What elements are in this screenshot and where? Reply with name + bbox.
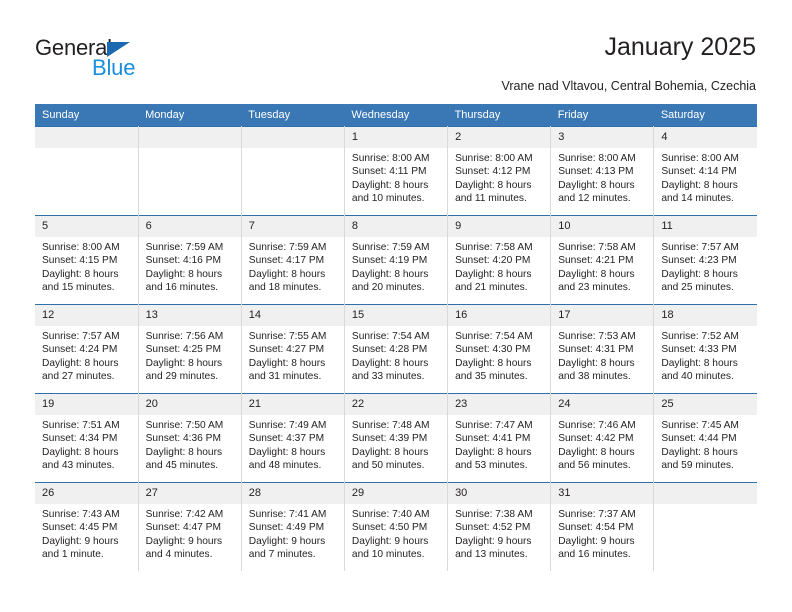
day-detail-line: and 40 minutes. [661,370,751,383]
day-detail-line: Sunrise: 7:43 AM [42,508,132,521]
day-detail-line: Sunrise: 7:49 AM [249,419,338,432]
day-detail-line: Sunrise: 8:00 AM [455,152,544,165]
day-detail-line: Daylight: 8 hours [661,179,751,192]
day-detail-line: and 59 minutes. [661,459,751,472]
day-number: 5 [35,216,138,237]
day-detail-line: Sunset: 4:13 PM [558,165,647,178]
calendar-empty-cell [138,127,241,216]
day-detail-line: Sunset: 4:27 PM [249,343,338,356]
page-header: General Blue January 2025 Vrane nad Vlta… [0,0,792,102]
calendar-day-cell[interactable]: 10Sunrise: 7:58 AMSunset: 4:21 PMDayligh… [551,216,654,305]
day-detail-line: Sunrise: 7:53 AM [558,330,647,343]
day-number [139,127,241,148]
calendar-week-row: 1Sunrise: 8:00 AMSunset: 4:11 PMDaylight… [35,127,757,216]
day-detail-line: Sunrise: 7:54 AM [455,330,544,343]
day-detail-line: Sunrise: 7:57 AM [661,241,751,254]
day-detail-line: Sunset: 4:47 PM [146,521,235,534]
day-detail-line: and 56 minutes. [558,459,647,472]
calendar-day-cell[interactable]: 3Sunrise: 8:00 AMSunset: 4:13 PMDaylight… [551,127,654,216]
day-detail-line: Daylight: 8 hours [455,446,544,459]
day-detail-line: Sunrise: 7:37 AM [558,508,647,521]
day-detail-line: Sunset: 4:28 PM [352,343,441,356]
day-details: Sunrise: 8:00 AMSunset: 4:11 PMDaylight:… [345,148,447,206]
calendar-day-cell[interactable]: 12Sunrise: 7:57 AMSunset: 4:24 PMDayligh… [35,305,138,394]
day-detail-line: Sunset: 4:49 PM [249,521,338,534]
day-details: Sunrise: 7:43 AMSunset: 4:45 PMDaylight:… [35,504,138,562]
day-detail-line: Sunset: 4:41 PM [455,432,544,445]
day-detail-line: Sunrise: 7:54 AM [352,330,441,343]
day-detail-line: and 53 minutes. [455,459,544,472]
day-detail-line: Daylight: 8 hours [146,446,235,459]
day-detail-line: Daylight: 8 hours [558,179,647,192]
day-detail-line: Sunrise: 7:59 AM [249,241,338,254]
day-detail-line: Sunrise: 8:00 AM [661,152,751,165]
day-detail-line: and 15 minutes. [42,281,132,294]
day-detail-line: Sunrise: 7:46 AM [558,419,647,432]
calendar-day-cell[interactable]: 19Sunrise: 7:51 AMSunset: 4:34 PMDayligh… [35,394,138,483]
calendar-day-cell[interactable]: 27Sunrise: 7:42 AMSunset: 4:47 PMDayligh… [138,483,241,572]
day-detail-line: Sunrise: 8:00 AM [558,152,647,165]
day-detail-line: Daylight: 8 hours [455,357,544,370]
calendar-day-cell[interactable]: 24Sunrise: 7:46 AMSunset: 4:42 PMDayligh… [551,394,654,483]
day-detail-line: Sunrise: 7:51 AM [42,419,132,432]
day-detail-line: and 12 minutes. [558,192,647,205]
day-detail-line: Sunset: 4:25 PM [146,343,235,356]
day-detail-line: Sunrise: 7:56 AM [146,330,235,343]
calendar-day-cell[interactable]: 5Sunrise: 8:00 AMSunset: 4:15 PMDaylight… [35,216,138,305]
day-number [242,127,344,148]
day-detail-line: Daylight: 8 hours [558,268,647,281]
day-detail-line: Sunset: 4:50 PM [352,521,441,534]
day-number: 3 [551,127,653,148]
weekday-header-tuesday: Tuesday [241,104,344,127]
day-detail-line: Daylight: 8 hours [558,357,647,370]
day-detail-line: Sunrise: 7:55 AM [249,330,338,343]
day-detail-line: Sunrise: 8:00 AM [42,241,132,254]
day-detail-line: Sunrise: 8:00 AM [352,152,441,165]
day-number: 4 [654,127,757,148]
day-details: Sunrise: 7:58 AMSunset: 4:20 PMDaylight:… [448,237,550,295]
day-details: Sunrise: 7:54 AMSunset: 4:28 PMDaylight:… [345,326,447,384]
calendar-day-cell[interactable]: 23Sunrise: 7:47 AMSunset: 4:41 PMDayligh… [448,394,551,483]
day-number [35,127,138,148]
day-details: Sunrise: 7:45 AMSunset: 4:44 PMDaylight:… [654,415,757,473]
day-details: Sunrise: 7:42 AMSunset: 4:47 PMDaylight:… [139,504,241,562]
day-detail-line: Sunrise: 7:42 AM [146,508,235,521]
day-detail-line: Daylight: 9 hours [558,535,647,548]
calendar-empty-cell [654,483,757,572]
page-subtitle: Vrane nad Vltavou, Central Bohemia, Czec… [501,79,756,93]
calendar-day-cell[interactable]: 28Sunrise: 7:41 AMSunset: 4:49 PMDayligh… [241,483,344,572]
day-detail-line: Daylight: 8 hours [249,268,338,281]
day-detail-line: Sunset: 4:34 PM [42,432,132,445]
calendar-week-row: 26Sunrise: 7:43 AMSunset: 4:45 PMDayligh… [35,483,757,572]
day-details: Sunrise: 7:40 AMSunset: 4:50 PMDaylight:… [345,504,447,562]
calendar-day-cell[interactable]: 18Sunrise: 7:52 AMSunset: 4:33 PMDayligh… [654,305,757,394]
day-detail-line: Sunset: 4:14 PM [661,165,751,178]
day-number: 10 [551,216,653,237]
calendar-day-cell[interactable]: 21Sunrise: 7:49 AMSunset: 4:37 PMDayligh… [241,394,344,483]
day-number: 24 [551,394,653,415]
day-detail-line: Daylight: 8 hours [661,446,751,459]
day-number: 26 [35,483,138,504]
day-details: Sunrise: 7:59 AMSunset: 4:16 PMDaylight:… [139,237,241,295]
calendar-day-cell[interactable]: 15Sunrise: 7:54 AMSunset: 4:28 PMDayligh… [344,305,447,394]
day-number: 9 [448,216,550,237]
brand-name-bottom: Blue [92,56,135,80]
day-detail-line: Daylight: 8 hours [249,446,338,459]
calendar-day-cell[interactable]: 4Sunrise: 8:00 AMSunset: 4:14 PMDaylight… [654,127,757,216]
day-number: 7 [242,216,344,237]
day-details: Sunrise: 7:52 AMSunset: 4:33 PMDaylight:… [654,326,757,384]
day-number: 17 [551,305,653,326]
day-detail-line: Sunset: 4:42 PM [558,432,647,445]
day-detail-line: Sunset: 4:52 PM [455,521,544,534]
page-title: January 2025 [604,33,756,62]
calendar-day-cell[interactable]: 30Sunrise: 7:38 AMSunset: 4:52 PMDayligh… [448,483,551,572]
day-detail-line: Sunrise: 7:48 AM [352,419,441,432]
day-number: 29 [345,483,447,504]
day-detail-line: Sunrise: 7:58 AM [558,241,647,254]
day-number: 6 [139,216,241,237]
calendar-day-cell[interactable]: 14Sunrise: 7:55 AMSunset: 4:27 PMDayligh… [241,305,344,394]
day-details: Sunrise: 8:00 AMSunset: 4:15 PMDaylight:… [35,237,138,295]
day-details: Sunrise: 7:41 AMSunset: 4:49 PMDaylight:… [242,504,344,562]
day-details: Sunrise: 7:50 AMSunset: 4:36 PMDaylight:… [139,415,241,473]
day-number: 27 [139,483,241,504]
day-detail-line: Sunset: 4:37 PM [249,432,338,445]
day-detail-line: and 11 minutes. [455,192,544,205]
calendar-day-cell[interactable]: 11Sunrise: 7:57 AMSunset: 4:23 PMDayligh… [654,216,757,305]
calendar-week-row: 5Sunrise: 8:00 AMSunset: 4:15 PMDaylight… [35,216,757,305]
day-detail-line: Daylight: 8 hours [352,357,441,370]
calendar-day-cell[interactable]: 13Sunrise: 7:56 AMSunset: 4:25 PMDayligh… [138,305,241,394]
day-number: 18 [654,305,757,326]
day-details: Sunrise: 7:53 AMSunset: 4:31 PMDaylight:… [551,326,653,384]
calendar-table: Sunday Monday Tuesday Wednesday Thursday… [35,104,757,571]
day-details: Sunrise: 7:47 AMSunset: 4:41 PMDaylight:… [448,415,550,473]
calendar-day-cell[interactable]: 7Sunrise: 7:59 AMSunset: 4:17 PMDaylight… [241,216,344,305]
day-detail-line: Daylight: 8 hours [42,268,132,281]
day-detail-line: and 14 minutes. [661,192,751,205]
day-details: Sunrise: 7:46 AMSunset: 4:42 PMDaylight:… [551,415,653,473]
calendar-weekday-header: Sunday Monday Tuesday Wednesday Thursday… [35,104,757,127]
calendar-day-cell[interactable]: 26Sunrise: 7:43 AMSunset: 4:45 PMDayligh… [35,483,138,572]
weekday-header-friday: Friday [551,104,654,127]
calendar-page: General Blue January 2025 Vrane nad Vlta… [0,0,792,612]
day-number: 25 [654,394,757,415]
day-detail-line: Daylight: 8 hours [352,179,441,192]
day-number: 21 [242,394,344,415]
day-detail-line: Sunrise: 7:50 AM [146,419,235,432]
day-details: Sunrise: 7:54 AMSunset: 4:30 PMDaylight:… [448,326,550,384]
weekday-header-monday: Monday [138,104,241,127]
day-detail-line: Sunset: 4:30 PM [455,343,544,356]
day-detail-line: Sunrise: 7:58 AM [455,241,544,254]
calendar-day-cell[interactable]: 8Sunrise: 7:59 AMSunset: 4:19 PMDaylight… [344,216,447,305]
day-number: 31 [551,483,653,504]
day-detail-line: Sunrise: 7:52 AM [661,330,751,343]
day-detail-line: and 25 minutes. [661,281,751,294]
day-detail-line: and 35 minutes. [455,370,544,383]
day-detail-line: and 16 minutes. [146,281,235,294]
day-details: Sunrise: 7:51 AMSunset: 4:34 PMDaylight:… [35,415,138,473]
day-detail-line: Sunrise: 7:59 AM [146,241,235,254]
day-detail-line: Sunrise: 7:57 AM [42,330,132,343]
day-detail-line: Sunrise: 7:47 AM [455,419,544,432]
weekday-header-sunday: Sunday [35,104,138,127]
day-number: 16 [448,305,550,326]
day-detail-line: and 13 minutes. [455,548,544,561]
day-detail-line: and 20 minutes. [352,281,441,294]
day-details: Sunrise: 7:37 AMSunset: 4:54 PMDaylight:… [551,504,653,562]
calendar-week-row: 12Sunrise: 7:57 AMSunset: 4:24 PMDayligh… [35,305,757,394]
weekday-header-thursday: Thursday [448,104,551,127]
calendar-day-cell[interactable]: 29Sunrise: 7:40 AMSunset: 4:50 PMDayligh… [344,483,447,572]
day-detail-line: and 50 minutes. [352,459,441,472]
day-detail-line: and 31 minutes. [249,370,338,383]
day-detail-line: Sunset: 4:31 PM [558,343,647,356]
weekday-row: Sunday Monday Tuesday Wednesday Thursday… [35,104,757,127]
day-detail-line: Sunrise: 7:59 AM [352,241,441,254]
day-number: 14 [242,305,344,326]
day-detail-line: and 16 minutes. [558,548,647,561]
day-detail-line: and 33 minutes. [352,370,441,383]
day-detail-line: Sunset: 4:17 PM [249,254,338,267]
day-detail-line: Daylight: 8 hours [42,357,132,370]
day-detail-line: and 27 minutes. [42,370,132,383]
day-number: 2 [448,127,550,148]
day-details: Sunrise: 7:48 AMSunset: 4:39 PMDaylight:… [345,415,447,473]
day-detail-line: Sunrise: 7:41 AM [249,508,338,521]
day-detail-line: Daylight: 8 hours [455,268,544,281]
calendar-day-cell[interactable]: 17Sunrise: 7:53 AMSunset: 4:31 PMDayligh… [551,305,654,394]
day-detail-line: Sunrise: 7:38 AM [455,508,544,521]
day-details: Sunrise: 7:59 AMSunset: 4:17 PMDaylight:… [242,237,344,295]
calendar-empty-cell [241,127,344,216]
calendar-day-cell[interactable]: 9Sunrise: 7:58 AMSunset: 4:20 PMDaylight… [448,216,551,305]
day-detail-line: Daylight: 8 hours [249,357,338,370]
day-number: 13 [139,305,241,326]
day-detail-line: and 43 minutes. [42,459,132,472]
day-details: Sunrise: 7:49 AMSunset: 4:37 PMDaylight:… [242,415,344,473]
day-detail-line: Daylight: 9 hours [249,535,338,548]
day-detail-line: Daylight: 9 hours [455,535,544,548]
day-detail-line: Sunset: 4:44 PM [661,432,751,445]
day-detail-line: Sunset: 4:54 PM [558,521,647,534]
brand-logo[interactable]: General Blue [35,36,215,82]
day-detail-line: Sunset: 4:23 PM [661,254,751,267]
day-detail-line: and 48 minutes. [249,459,338,472]
day-number: 30 [448,483,550,504]
day-number: 28 [242,483,344,504]
day-number: 8 [345,216,447,237]
day-number: 20 [139,394,241,415]
day-detail-line: Sunset: 4:16 PM [146,254,235,267]
day-detail-line: Daylight: 8 hours [146,357,235,370]
calendar-empty-cell [35,127,138,216]
day-number: 1 [345,127,447,148]
day-detail-line: and 23 minutes. [558,281,647,294]
day-detail-line: Sunset: 4:11 PM [352,165,441,178]
day-details: Sunrise: 7:59 AMSunset: 4:19 PMDaylight:… [345,237,447,295]
day-detail-line: and 4 minutes. [146,548,235,561]
day-detail-line: and 45 minutes. [146,459,235,472]
calendar-day-cell[interactable]: 31Sunrise: 7:37 AMSunset: 4:54 PMDayligh… [551,483,654,572]
day-detail-line: Sunset: 4:20 PM [455,254,544,267]
day-detail-line: Daylight: 8 hours [352,268,441,281]
weekday-header-wednesday: Wednesday [344,104,447,127]
day-detail-line: and 1 minute. [42,548,132,561]
day-detail-line: Sunset: 4:21 PM [558,254,647,267]
day-number: 19 [35,394,138,415]
day-detail-line: Sunrise: 7:45 AM [661,419,751,432]
day-number [654,483,757,504]
calendar-body: 1Sunrise: 8:00 AMSunset: 4:11 PMDaylight… [35,127,757,572]
day-detail-line: Sunset: 4:24 PM [42,343,132,356]
day-details: Sunrise: 7:58 AMSunset: 4:21 PMDaylight:… [551,237,653,295]
day-detail-line: Sunset: 4:45 PM [42,521,132,534]
day-detail-line: Daylight: 8 hours [352,446,441,459]
day-details: Sunrise: 7:57 AMSunset: 4:24 PMDaylight:… [35,326,138,384]
day-detail-line: Sunset: 4:15 PM [42,254,132,267]
day-details: Sunrise: 8:00 AMSunset: 4:13 PMDaylight:… [551,148,653,206]
day-detail-line: Sunrise: 7:40 AM [352,508,441,521]
day-detail-line: and 18 minutes. [249,281,338,294]
day-detail-line: and 21 minutes. [455,281,544,294]
day-detail-line: Sunset: 4:12 PM [455,165,544,178]
day-details: Sunrise: 7:56 AMSunset: 4:25 PMDaylight:… [139,326,241,384]
day-detail-line: Daylight: 9 hours [352,535,441,548]
day-details: Sunrise: 7:55 AMSunset: 4:27 PMDaylight:… [242,326,344,384]
day-detail-line: Daylight: 9 hours [42,535,132,548]
calendar-day-cell[interactable]: 25Sunrise: 7:45 AMSunset: 4:44 PMDayligh… [654,394,757,483]
day-detail-line: Daylight: 8 hours [455,179,544,192]
day-detail-line: Daylight: 8 hours [146,268,235,281]
day-detail-line: and 38 minutes. [558,370,647,383]
day-detail-line: Daylight: 9 hours [146,535,235,548]
day-number: 11 [654,216,757,237]
calendar-week-row: 19Sunrise: 7:51 AMSunset: 4:34 PMDayligh… [35,394,757,483]
calendar-day-cell[interactable]: 20Sunrise: 7:50 AMSunset: 4:36 PMDayligh… [138,394,241,483]
day-detail-line: Daylight: 8 hours [42,446,132,459]
calendar-day-cell[interactable]: 22Sunrise: 7:48 AMSunset: 4:39 PMDayligh… [344,394,447,483]
day-details: Sunrise: 8:00 AMSunset: 4:14 PMDaylight:… [654,148,757,206]
day-detail-line: Sunset: 4:36 PM [146,432,235,445]
day-detail-line: Sunset: 4:19 PM [352,254,441,267]
day-detail-line: Daylight: 8 hours [661,357,751,370]
day-detail-line: and 29 minutes. [146,370,235,383]
day-number: 15 [345,305,447,326]
weekday-header-saturday: Saturday [654,104,757,127]
day-detail-line: Sunset: 4:39 PM [352,432,441,445]
day-number: 22 [345,394,447,415]
calendar-day-cell[interactable]: 6Sunrise: 7:59 AMSunset: 4:16 PMDaylight… [138,216,241,305]
calendar-day-cell[interactable]: 1Sunrise: 8:00 AMSunset: 4:11 PMDaylight… [344,127,447,216]
calendar-day-cell[interactable]: 2Sunrise: 8:00 AMSunset: 4:12 PMDaylight… [448,127,551,216]
day-detail-line: and 10 minutes. [352,548,441,561]
day-number: 12 [35,305,138,326]
day-number: 23 [448,394,550,415]
day-details: Sunrise: 7:38 AMSunset: 4:52 PMDaylight:… [448,504,550,562]
day-detail-line: and 10 minutes. [352,192,441,205]
day-detail-line: Sunset: 4:33 PM [661,343,751,356]
calendar-day-cell[interactable]: 16Sunrise: 7:54 AMSunset: 4:30 PMDayligh… [448,305,551,394]
day-details: Sunrise: 8:00 AMSunset: 4:12 PMDaylight:… [448,148,550,206]
day-detail-line: Daylight: 8 hours [661,268,751,281]
day-details: Sunrise: 7:57 AMSunset: 4:23 PMDaylight:… [654,237,757,295]
day-detail-line: and 7 minutes. [249,548,338,561]
day-detail-line: Daylight: 8 hours [558,446,647,459]
